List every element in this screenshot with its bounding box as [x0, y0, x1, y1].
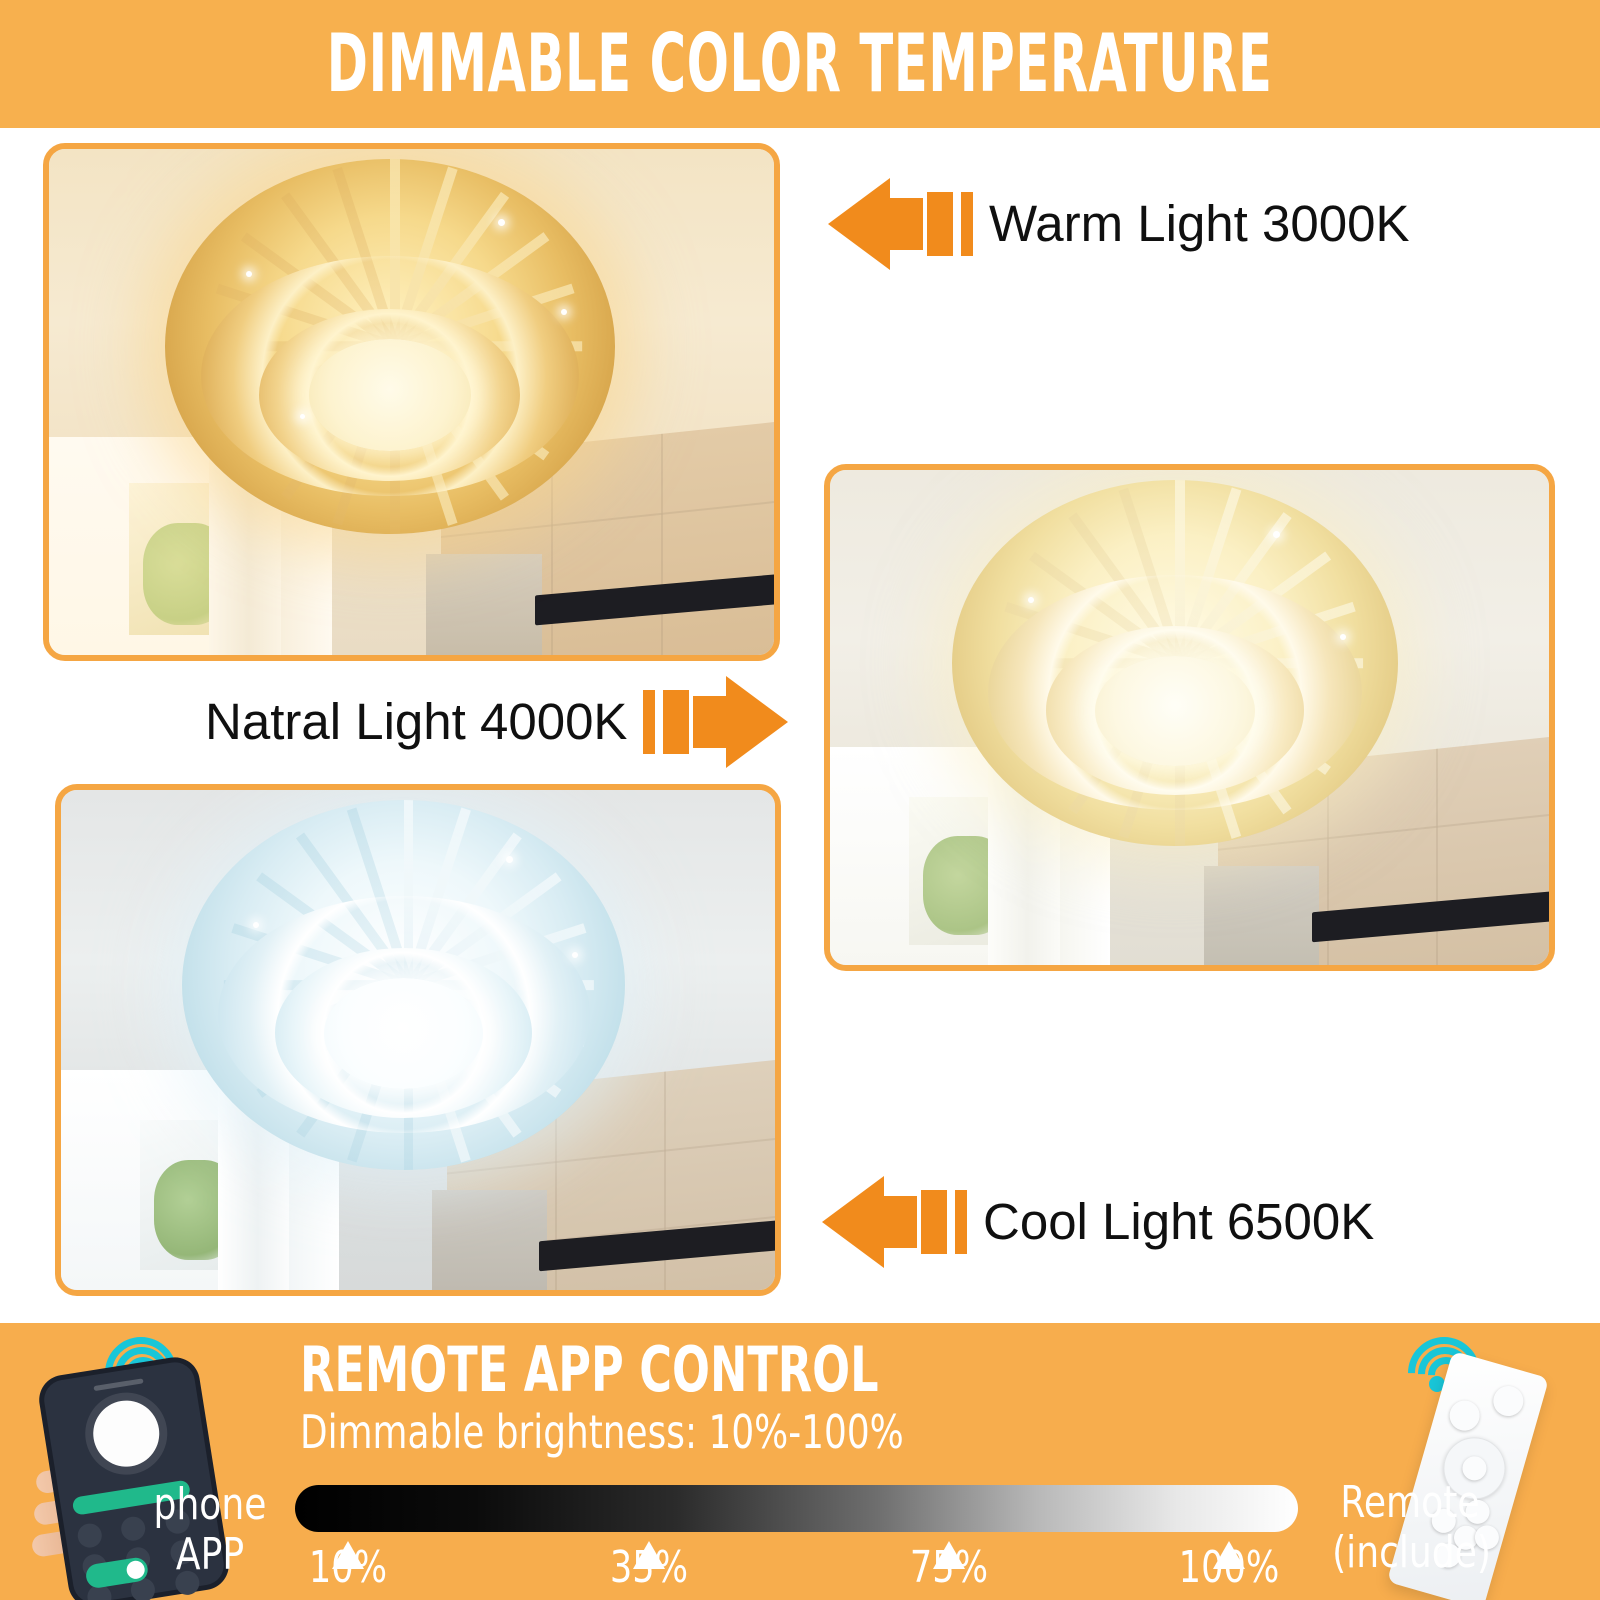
scene-icon[interactable] [76, 1522, 103, 1549]
bottom-banner-subtitle: Dimmable brightness: 10%-100% [300, 1408, 904, 1456]
bottom-banner-title: REMOTE APP CONTROL [300, 1338, 879, 1402]
callout-label-warm: Warm Light 3000K [989, 196, 1409, 252]
natural-light-photo [824, 464, 1555, 971]
callout-label-cool: Cool Light 6500K [983, 1194, 1374, 1250]
tick-label-10: 10% [309, 1545, 387, 1591]
brightness-gradient-bar[interactable] [295, 1485, 1298, 1532]
remote-label-line1: Remote [1332, 1478, 1488, 1528]
warm-light-photo [43, 143, 780, 661]
callout-warm-light: Warm Light 3000K [828, 178, 1409, 270]
remote-label: Remote (include) [1332, 1478, 1488, 1578]
tick-label-35: 35% [610, 1545, 688, 1591]
header-banner: DIMMABLE COLOR TEMPERATURE [0, 0, 1600, 128]
arrow-left-icon [822, 1176, 967, 1268]
off-button[interactable] [1490, 1383, 1527, 1420]
arrow-left-icon [828, 178, 973, 270]
phone-app-label: phone APP [153, 1480, 268, 1580]
scene-icon[interactable] [120, 1515, 147, 1542]
on-button[interactable] [1446, 1397, 1483, 1434]
phone-app-label-line1: phone [153, 1480, 268, 1530]
page-title: DIMMABLE COLOR TEMPERATURE [327, 24, 1273, 104]
remote-label-line2: (include) [1332, 1528, 1488, 1578]
tick-label-75: 75% [910, 1545, 988, 1591]
infographic-page: DIMMABLE COLOR TEMPERATURE [0, 0, 1600, 1600]
phone-app-label-line2: APP [153, 1530, 268, 1580]
cool-light-photo [55, 784, 781, 1296]
callout-label-natural: Natral Light 4000K [205, 694, 627, 750]
callout-natural-light: Natral Light 4000K [205, 676, 788, 768]
callout-cool-light: Cool Light 6500K [822, 1176, 1374, 1268]
tick-label-100: 100% [1179, 1545, 1280, 1591]
brightness-dial[interactable] [89, 1396, 165, 1472]
arrow-right-icon [643, 676, 788, 768]
app-brand-label [93, 1378, 143, 1391]
